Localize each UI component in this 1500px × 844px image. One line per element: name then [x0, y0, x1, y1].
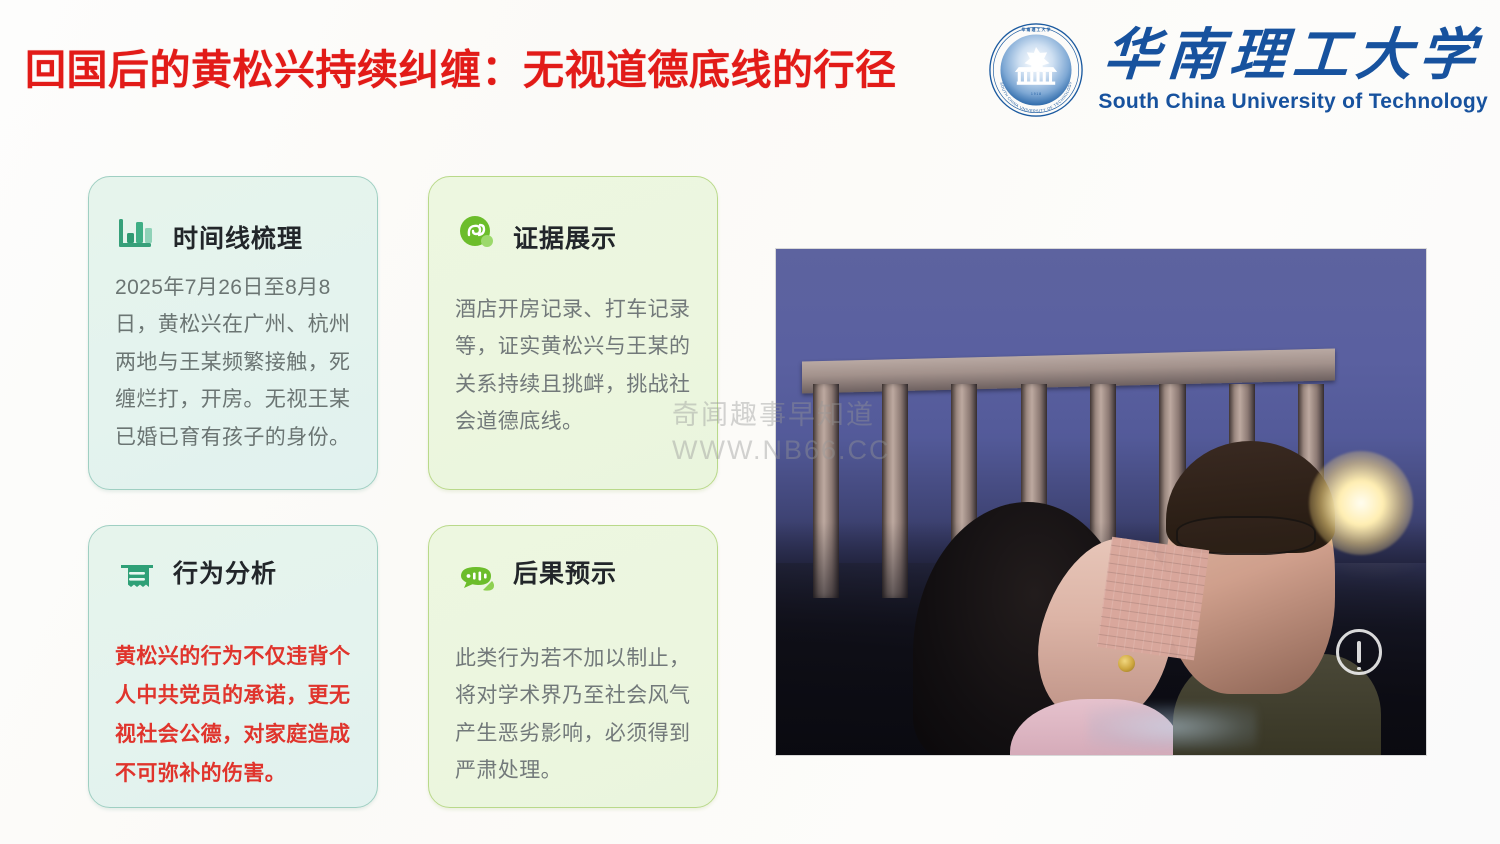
svg-text:华 南 理 工 大 学: 华 南 理 工 大 学 — [1022, 27, 1051, 32]
card-title: 后果预示 — [513, 562, 617, 590]
photo-earring — [1118, 655, 1135, 672]
evidence-photo — [775, 248, 1427, 756]
card-header: 时间线梳理 — [115, 199, 351, 255]
exclamation-circle-icon — [1336, 629, 1382, 675]
scut-seal-icon: 华 南 理 工 大 学 SOUTH CHINA UNIVERSITY OF TE… — [988, 22, 1084, 118]
card-body-text: 黄松兴的行为不仅违背个人中共党员的承诺，更无视社会公德，对家庭造成不可弥补的伤害… — [115, 638, 351, 793]
card-body-text: 此类行为若不加以制止，将对学术界乃至社会风气产生恶劣影响，必须得到严肃处理。 — [455, 640, 691, 790]
receipt-icon — [115, 554, 159, 598]
card-header: 证据展示 — [455, 199, 691, 255]
brand-wordmark: 华南理工大学 South China University of Technol… — [1098, 27, 1488, 114]
chat-bubble-icon — [455, 554, 499, 598]
svg-text:1 9 1 8: 1 9 1 8 — [1031, 92, 1041, 96]
brand-logo: 华 南 理 工 大 学 SOUTH CHINA UNIVERSITY OF TE… — [988, 22, 1488, 118]
slide-root: 回国后的黄松兴持续纠缠：无视道德底线的行径 — [0, 0, 1500, 844]
info-card-consequence[interactable]: 后果预示 此类行为若不加以制止，将对学术界乃至社会风气产生恶劣影响，必须得到严肃… — [428, 525, 718, 808]
info-card-behavior-analysis[interactable]: 行为分析 黄松兴的行为不仅违背个人中共党员的承诺，更无视社会公德，对家庭造成不可… — [88, 525, 378, 808]
page-title: 回国后的黄松兴持续纠缠：无视道德底线的行径 — [25, 36, 897, 96]
card-body-text: 酒店开房记录、打车记录等，证实黄松兴与王某的关系持续且挑衅，挑战社会道德底线。 — [455, 291, 691, 441]
photo-canvas — [776, 249, 1426, 755]
card-title: 时间线梳理 — [173, 227, 303, 255]
info-card-evidence[interactable]: 证据展示 酒店开房记录、打车记录等，证实黄松兴与王某的关系持续且挑衅，挑战社会道… — [428, 176, 718, 490]
card-body-text: 2025年7月26日至8月8日，黄松兴在广州、杭州两地与王某频繁接触，死缠烂打，… — [115, 269, 351, 456]
brand-name-en: South China University of Technology — [1098, 90, 1488, 114]
photo-lens-flare — [1309, 451, 1413, 555]
slide-header: 回国后的黄松兴持续纠缠：无视道德底线的行径 — [0, 0, 1500, 150]
photo-bokeh — [1088, 704, 1257, 750]
brand-name-cn: 华南理工大学 — [1102, 27, 1484, 83]
bar-chart-icon — [115, 211, 159, 255]
info-card-timeline[interactable]: 时间线梳理 2025年7月26日至8月8日，黄松兴在广州、杭州两地与王某频繁接触… — [88, 176, 378, 490]
card-title: 证据展示 — [513, 227, 617, 255]
photo-mosaic-censor — [1097, 536, 1209, 660]
card-header: 后果预示 — [455, 548, 691, 604]
card-header: 行为分析 — [115, 548, 351, 604]
card-title: 行为分析 — [173, 562, 277, 590]
mini-program-icon — [455, 211, 499, 255]
